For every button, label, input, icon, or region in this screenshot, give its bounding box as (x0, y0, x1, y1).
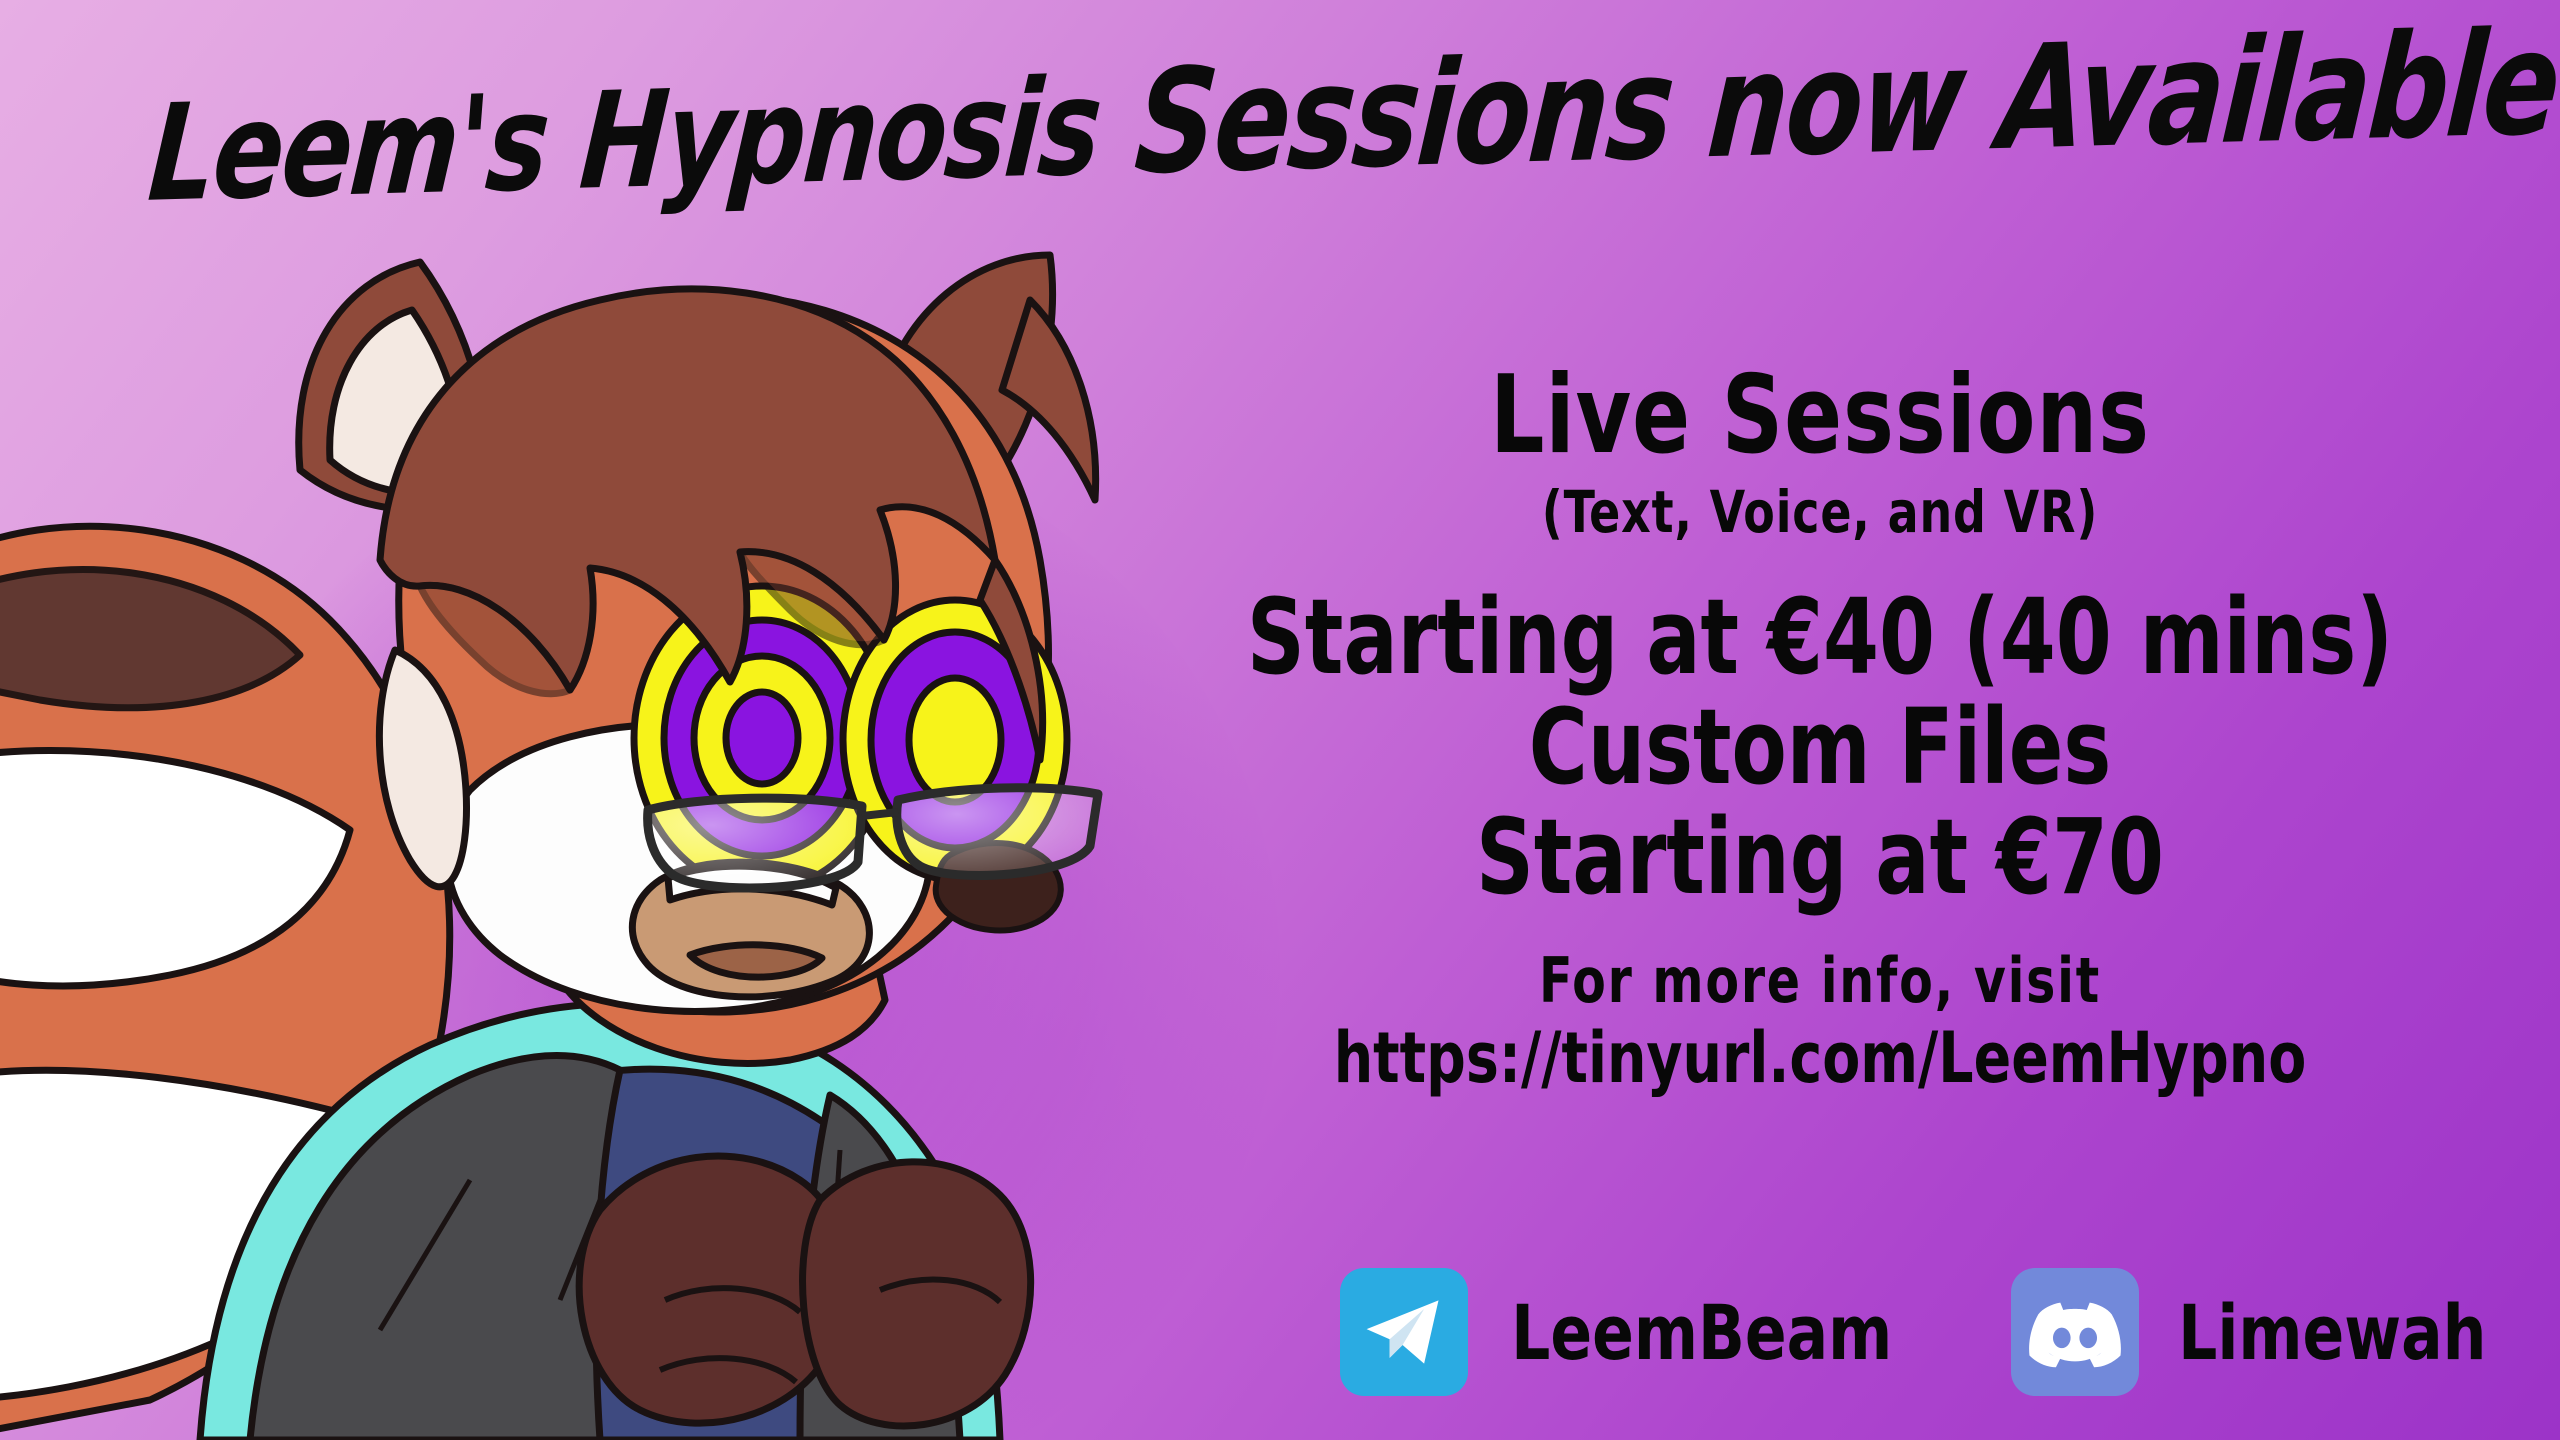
hair (380, 289, 1096, 760)
offer-details: Live Sessions (Text, Voice, and VR) Star… (1140, 360, 2500, 1094)
headline-part-2: Sessions now Available! (1093, 0, 2560, 208)
telegram-icon (1358, 1286, 1450, 1378)
custom-files-title: Custom Files (1235, 693, 2405, 801)
mouth (632, 862, 869, 997)
head (299, 255, 1098, 1012)
paws (579, 1156, 1030, 1426)
telegram-badge[interactable] (1340, 1268, 1468, 1396)
tail (0, 526, 450, 1440)
discord-badge[interactable] (2011, 1268, 2139, 1396)
promo-poster: Leem's Hypnosis Sessions now Available! … (0, 0, 2560, 1440)
social-link-discord[interactable]: Limewah (2011, 1268, 2504, 1396)
nose (936, 843, 1061, 930)
discord-handle: Limewah (2179, 1288, 2487, 1377)
custom-files-price: Starting at €70 (1235, 803, 2405, 911)
page-title: Leem's Hypnosis Sessions now Available! (144, 14, 2474, 223)
body-jacket (200, 1003, 1000, 1440)
discord-icon (2028, 1285, 2122, 1379)
live-sessions-title: Live Sessions (1222, 360, 2419, 472)
info-prompt: For more info, visit (1222, 949, 2419, 1013)
live-sessions-modes: (Text, Voice, and VR) (1222, 482, 2419, 542)
neck (560, 920, 885, 1063)
glasses (648, 788, 1098, 888)
live-sessions-price: Starting at €40 (40 mins) (1235, 583, 2405, 691)
telegram-handle: LeemBeam (1511, 1288, 1892, 1377)
social-link-telegram[interactable]: LeemBeam (1340, 1268, 1913, 1396)
info-url[interactable]: https://tinyurl.com/LeemHypno (1222, 1022, 2419, 1095)
background-glow (180, 420, 1280, 1440)
social-links: LeemBeam Limewah (1340, 1268, 2504, 1396)
hypnotic-eyes (634, 586, 1067, 890)
headline-part-1: Leem's Hypnosis (144, 49, 1106, 232)
